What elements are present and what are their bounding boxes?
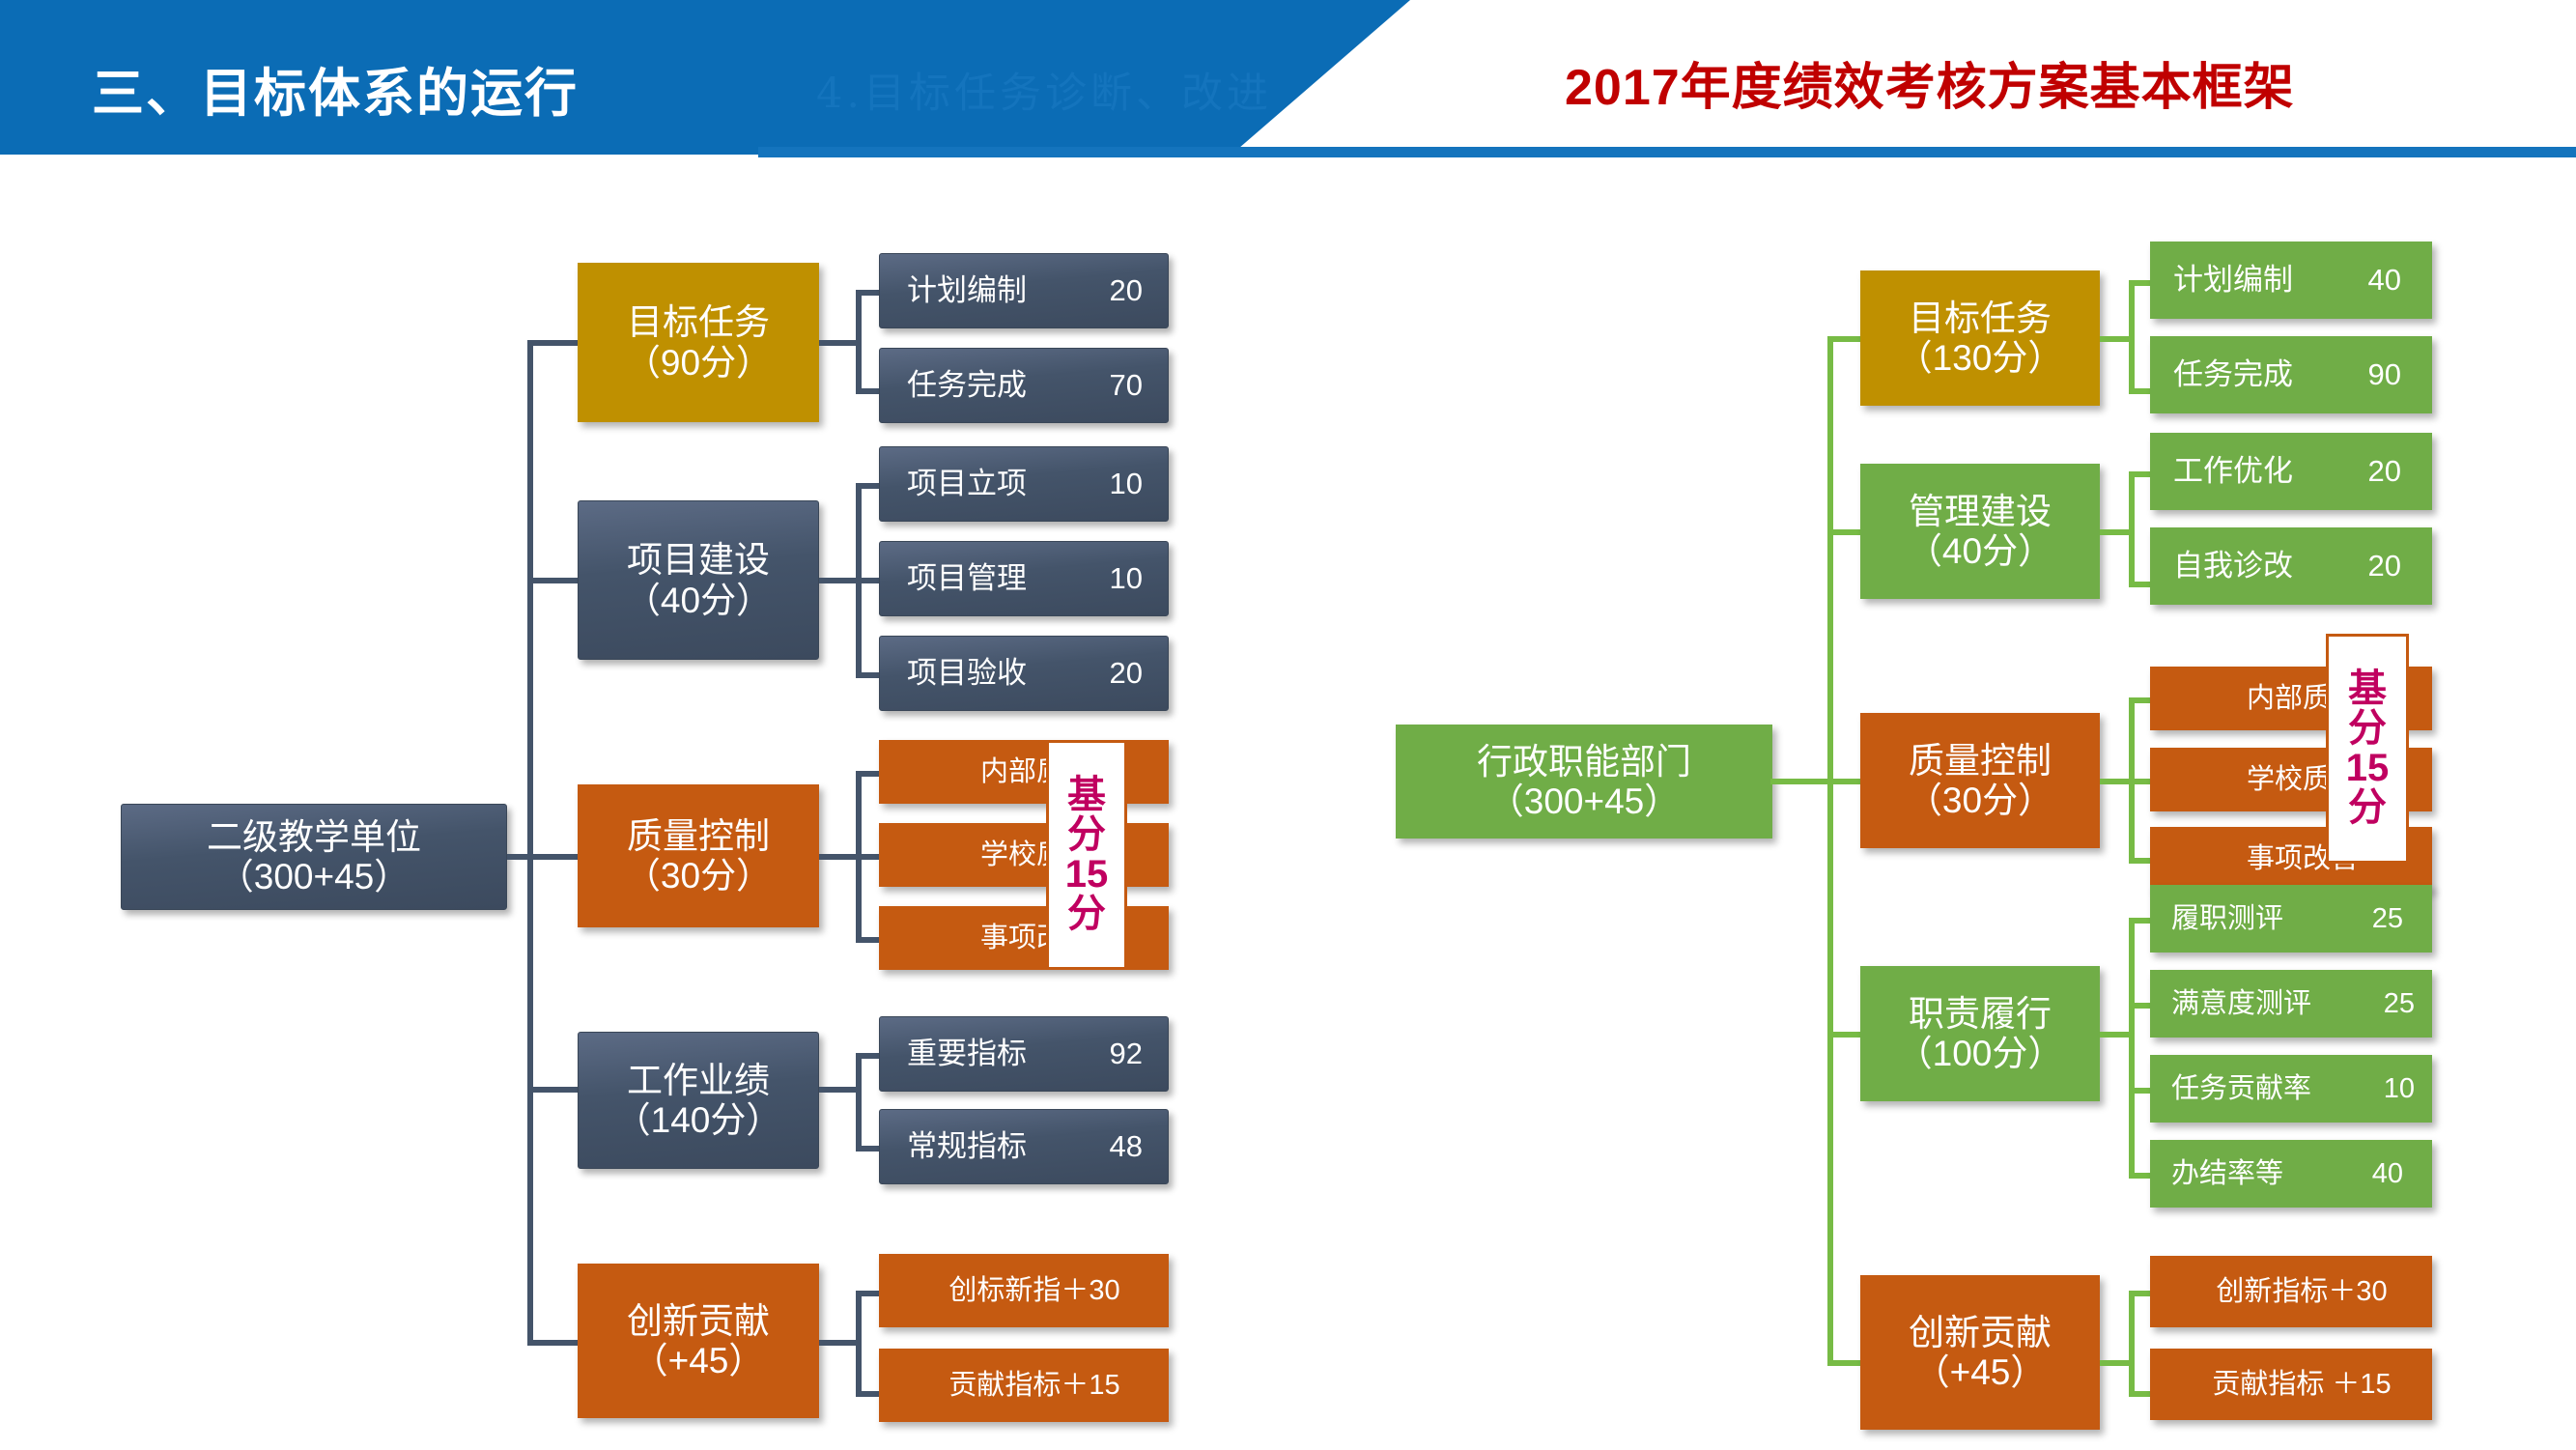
right-leaf-innovation-indicator: 创新指标＋30 (2150, 1256, 2432, 1327)
right-leaf-satisfaction-eval: 满意度测评 25 (2150, 970, 2432, 1038)
left-leaf-contrib-indicator: 贡献指标＋15 (879, 1349, 1169, 1422)
left-leaf-routine-indicator: 常规指标 48 (879, 1109, 1169, 1184)
right-base-score-l2: 分 (2348, 709, 2387, 749)
right-leaf-satisfaction-eval-value: 25 (2384, 988, 2415, 1019)
left-root-node: 二级教学单位 （300+45） (121, 804, 507, 910)
left-branch-4-out (819, 1087, 860, 1093)
right-leaf-work-optimize-name: 工作优化 (2173, 455, 2293, 489)
right-leaf-task-contribution: 任务贡献率 10 (2150, 1055, 2432, 1123)
left-leaf-project-mgmt-value: 10 (1110, 562, 1143, 596)
right-branch-5-stem (1827, 1360, 1864, 1366)
left-base-score-l4: 分 (1067, 895, 1106, 934)
left-leaf-plan-prep-value: 20 (1110, 274, 1143, 308)
left-leaf-contrib-indicator-name: 贡献指标＋15 (948, 1370, 1119, 1401)
right-branch-4-stem (1827, 1032, 1864, 1038)
right-leaf-innovation-indicator-name: 创新指标＋30 (2216, 1276, 2387, 1307)
left-root-label: 二级教学单位 （300+45） (207, 817, 421, 897)
right-leaf-self-diagnose: 自我诊改 20 (2150, 527, 2432, 605)
left-branch-4-stem (527, 1087, 578, 1093)
right-leaf-duty-eval-name: 履职测评 (2171, 903, 2283, 934)
right-base-score-box: 基 分 15 分 (2326, 634, 2409, 864)
right-branch-2-out (2100, 529, 2133, 535)
left-branch-4-label: 工作业绩 （140分） (615, 1061, 782, 1141)
left-leaf-project-mgmt: 项目管理 10 (879, 541, 1169, 616)
right-leaf-duty-eval: 履职测评 25 (2150, 885, 2432, 952)
right-branch-2-bus (2129, 471, 2135, 587)
left-leaf-plan-prep-name: 计划编制 (907, 274, 1027, 308)
right-branch-3-label: 质量控制 （30分） (1907, 741, 2053, 821)
left-branch-3-stem (527, 854, 578, 860)
left-branch-4-bus (856, 1053, 862, 1146)
right-leaf-contrib-indicator: 贡献指标 ＋15 (2150, 1349, 2432, 1420)
right-leaf-duty-eval-value: 25 (2372, 903, 2403, 934)
right-branch-4-bus (2129, 918, 2135, 1177)
left-leaf-project-init: 项目立项 10 (879, 446, 1169, 522)
right-branch-5-label: 创新贡献 （+45） (1909, 1313, 2052, 1393)
left-branch-3-label: 质量控制 （30分） (625, 816, 772, 896)
left-branch-3-out (819, 854, 860, 860)
left-leaf-project-accept-value: 20 (1110, 657, 1143, 691)
left-branch-2-stem (527, 578, 578, 583)
right-branch-3-node: 质量控制 （30分） (1860, 713, 2100, 848)
left-branch-1-node: 目标任务 （90分） (578, 263, 819, 422)
left-branch-2-node: 项目建设 （40分） (578, 500, 819, 660)
left-branch-1-bus (856, 290, 862, 394)
left-leaf-task-done-name: 任务完成 (907, 369, 1027, 403)
right-branch-1-out (2100, 336, 2133, 342)
right-spine-vertical (1827, 336, 1833, 1360)
right-branch-1-stem (1827, 336, 1864, 342)
left-leaf-plan-prep: 计划编制 20 (879, 253, 1169, 328)
left-branch-3-node: 质量控制 （30分） (578, 784, 819, 927)
right-leaf-task-contribution-name: 任务贡献率 (2171, 1073, 2311, 1104)
right-branch-5-out (2100, 1360, 2133, 1366)
left-base-score-l2: 分 (1067, 815, 1106, 855)
right-leaf-plan-prep-name: 计划编制 (2173, 264, 2293, 298)
left-base-score-l1: 基 (1067, 776, 1106, 815)
left-branch-5-node: 创新贡献 （+45） (578, 1264, 819, 1418)
right-root-connector (1770, 779, 1832, 784)
left-spine-vertical (527, 340, 533, 1345)
right-branch-2-node: 管理建设 （40分） (1860, 464, 2100, 599)
header-divider-rule (758, 147, 2576, 157)
right-branch-2-label: 管理建设 （40分） (1907, 492, 2053, 572)
right-leaf-task-contribution-value: 10 (2384, 1073, 2415, 1104)
left-branch-1-out (819, 340, 860, 346)
header-section-title: 三、目标体系的运行 (92, 50, 579, 127)
left-leaf-new-standard: 创标新指＋30 (879, 1254, 1169, 1327)
header-sub-title: 4.目标任务诊断、改进 (816, 60, 1272, 120)
left-leaf-project-mgmt-name: 项目管理 (907, 562, 1027, 596)
left-leaf-project-init-name: 项目立项 (907, 468, 1027, 501)
right-branch-2-stem (1827, 529, 1864, 535)
right-leaf-plan-prep-value: 40 (2368, 264, 2401, 298)
left-leaf-project-accept: 项目验收 20 (879, 636, 1169, 711)
right-branch-4-out (2100, 1032, 2133, 1038)
header-main-title: 2017年度绩效考核方案基本框架 (1565, 46, 2295, 119)
right-leaf-work-optimize: 工作优化 20 (2150, 433, 2432, 510)
right-leaf-task-done: 任务完成 90 (2150, 336, 2432, 413)
right-base-score-l3: 15 (2346, 749, 2390, 788)
right-branch-5-bus (2129, 1291, 2135, 1393)
right-branch-4-node: 职责履行 （100分） (1860, 966, 2100, 1101)
right-branch-1-label: 目标任务 （130分） (1897, 299, 2064, 379)
left-leaf-new-standard-name: 创标新指＋30 (948, 1275, 1119, 1306)
left-branch-1-stem (527, 340, 578, 346)
right-leaf-completion-rate: 办结率等 40 (2150, 1140, 2432, 1208)
left-base-score-box: 基 分 15 分 (1046, 740, 1127, 970)
left-branch-5-bus (856, 1291, 862, 1391)
left-leaf-task-done-value: 70 (1110, 369, 1143, 403)
left-branch-4-node: 工作业绩 （140分） (578, 1032, 819, 1169)
right-leaf-plan-prep: 计划编制 40 (2150, 242, 2432, 319)
right-base-score-l1: 基 (2348, 669, 2387, 709)
right-branch-1-node: 目标任务 （130分） (1860, 270, 2100, 406)
slide-canvas: 三、目标体系的运行 4.目标任务诊断、改进 2017年度绩效考核方案基本框架 二… (0, 0, 2576, 1450)
right-leaf-satisfaction-eval-name: 满意度测评 (2171, 988, 2311, 1019)
left-leaf-project-accept-name: 项目验收 (907, 657, 1027, 691)
right-leaf-completion-rate-name: 办结率等 (2171, 1158, 2283, 1189)
left-leaf-routine-indicator-value: 48 (1110, 1130, 1143, 1164)
left-leaf-task-done: 任务完成 70 (879, 348, 1169, 423)
right-leaf-task-done-name: 任务完成 (2173, 358, 2293, 392)
right-branch-5-node: 创新贡献 （+45） (1860, 1275, 2100, 1430)
left-branch-2-label: 项目建设 （40分） (625, 540, 772, 620)
left-branch-5-stem (527, 1340, 578, 1346)
right-branch-3-out (2100, 779, 2133, 784)
left-base-score-l3: 15 (1065, 855, 1109, 895)
right-branch-3-stem (1827, 779, 1864, 784)
left-leaf-project-init-value: 10 (1110, 468, 1143, 501)
left-branch-5-label: 创新贡献 （+45） (627, 1301, 770, 1381)
left-leaf-key-indicator: 重要指标 92 (879, 1016, 1169, 1092)
left-leaf-key-indicator-name: 重要指标 (907, 1038, 1027, 1071)
left-branch-2-out (819, 578, 860, 583)
left-branch-1-label: 目标任务 （90分） (625, 302, 772, 383)
right-base-score-l4: 分 (2348, 788, 2387, 828)
right-leaf-work-optimize-value: 20 (2368, 455, 2401, 489)
left-branch-5-out (819, 1340, 860, 1346)
right-leaf-self-diagnose-value: 20 (2368, 550, 2401, 583)
right-leaf-self-diagnose-name: 自我诊改 (2173, 550, 2293, 583)
right-branch-4-label: 职责履行 （100分） (1897, 994, 2064, 1074)
right-root-node: 行政职能部门 （300+45） (1396, 725, 1772, 839)
right-leaf-contrib-indicator-name: 贡献指标 ＋15 (2212, 1369, 2391, 1400)
right-branch-1-bus (2129, 280, 2135, 394)
left-leaf-key-indicator-value: 92 (1110, 1038, 1143, 1071)
right-leaf-completion-rate-value: 40 (2372, 1158, 2403, 1189)
right-leaf-task-done-value: 90 (2368, 358, 2401, 392)
left-leaf-routine-indicator-name: 常规指标 (907, 1130, 1027, 1164)
right-root-label: 行政职能部门 （300+45） (1477, 742, 1691, 822)
